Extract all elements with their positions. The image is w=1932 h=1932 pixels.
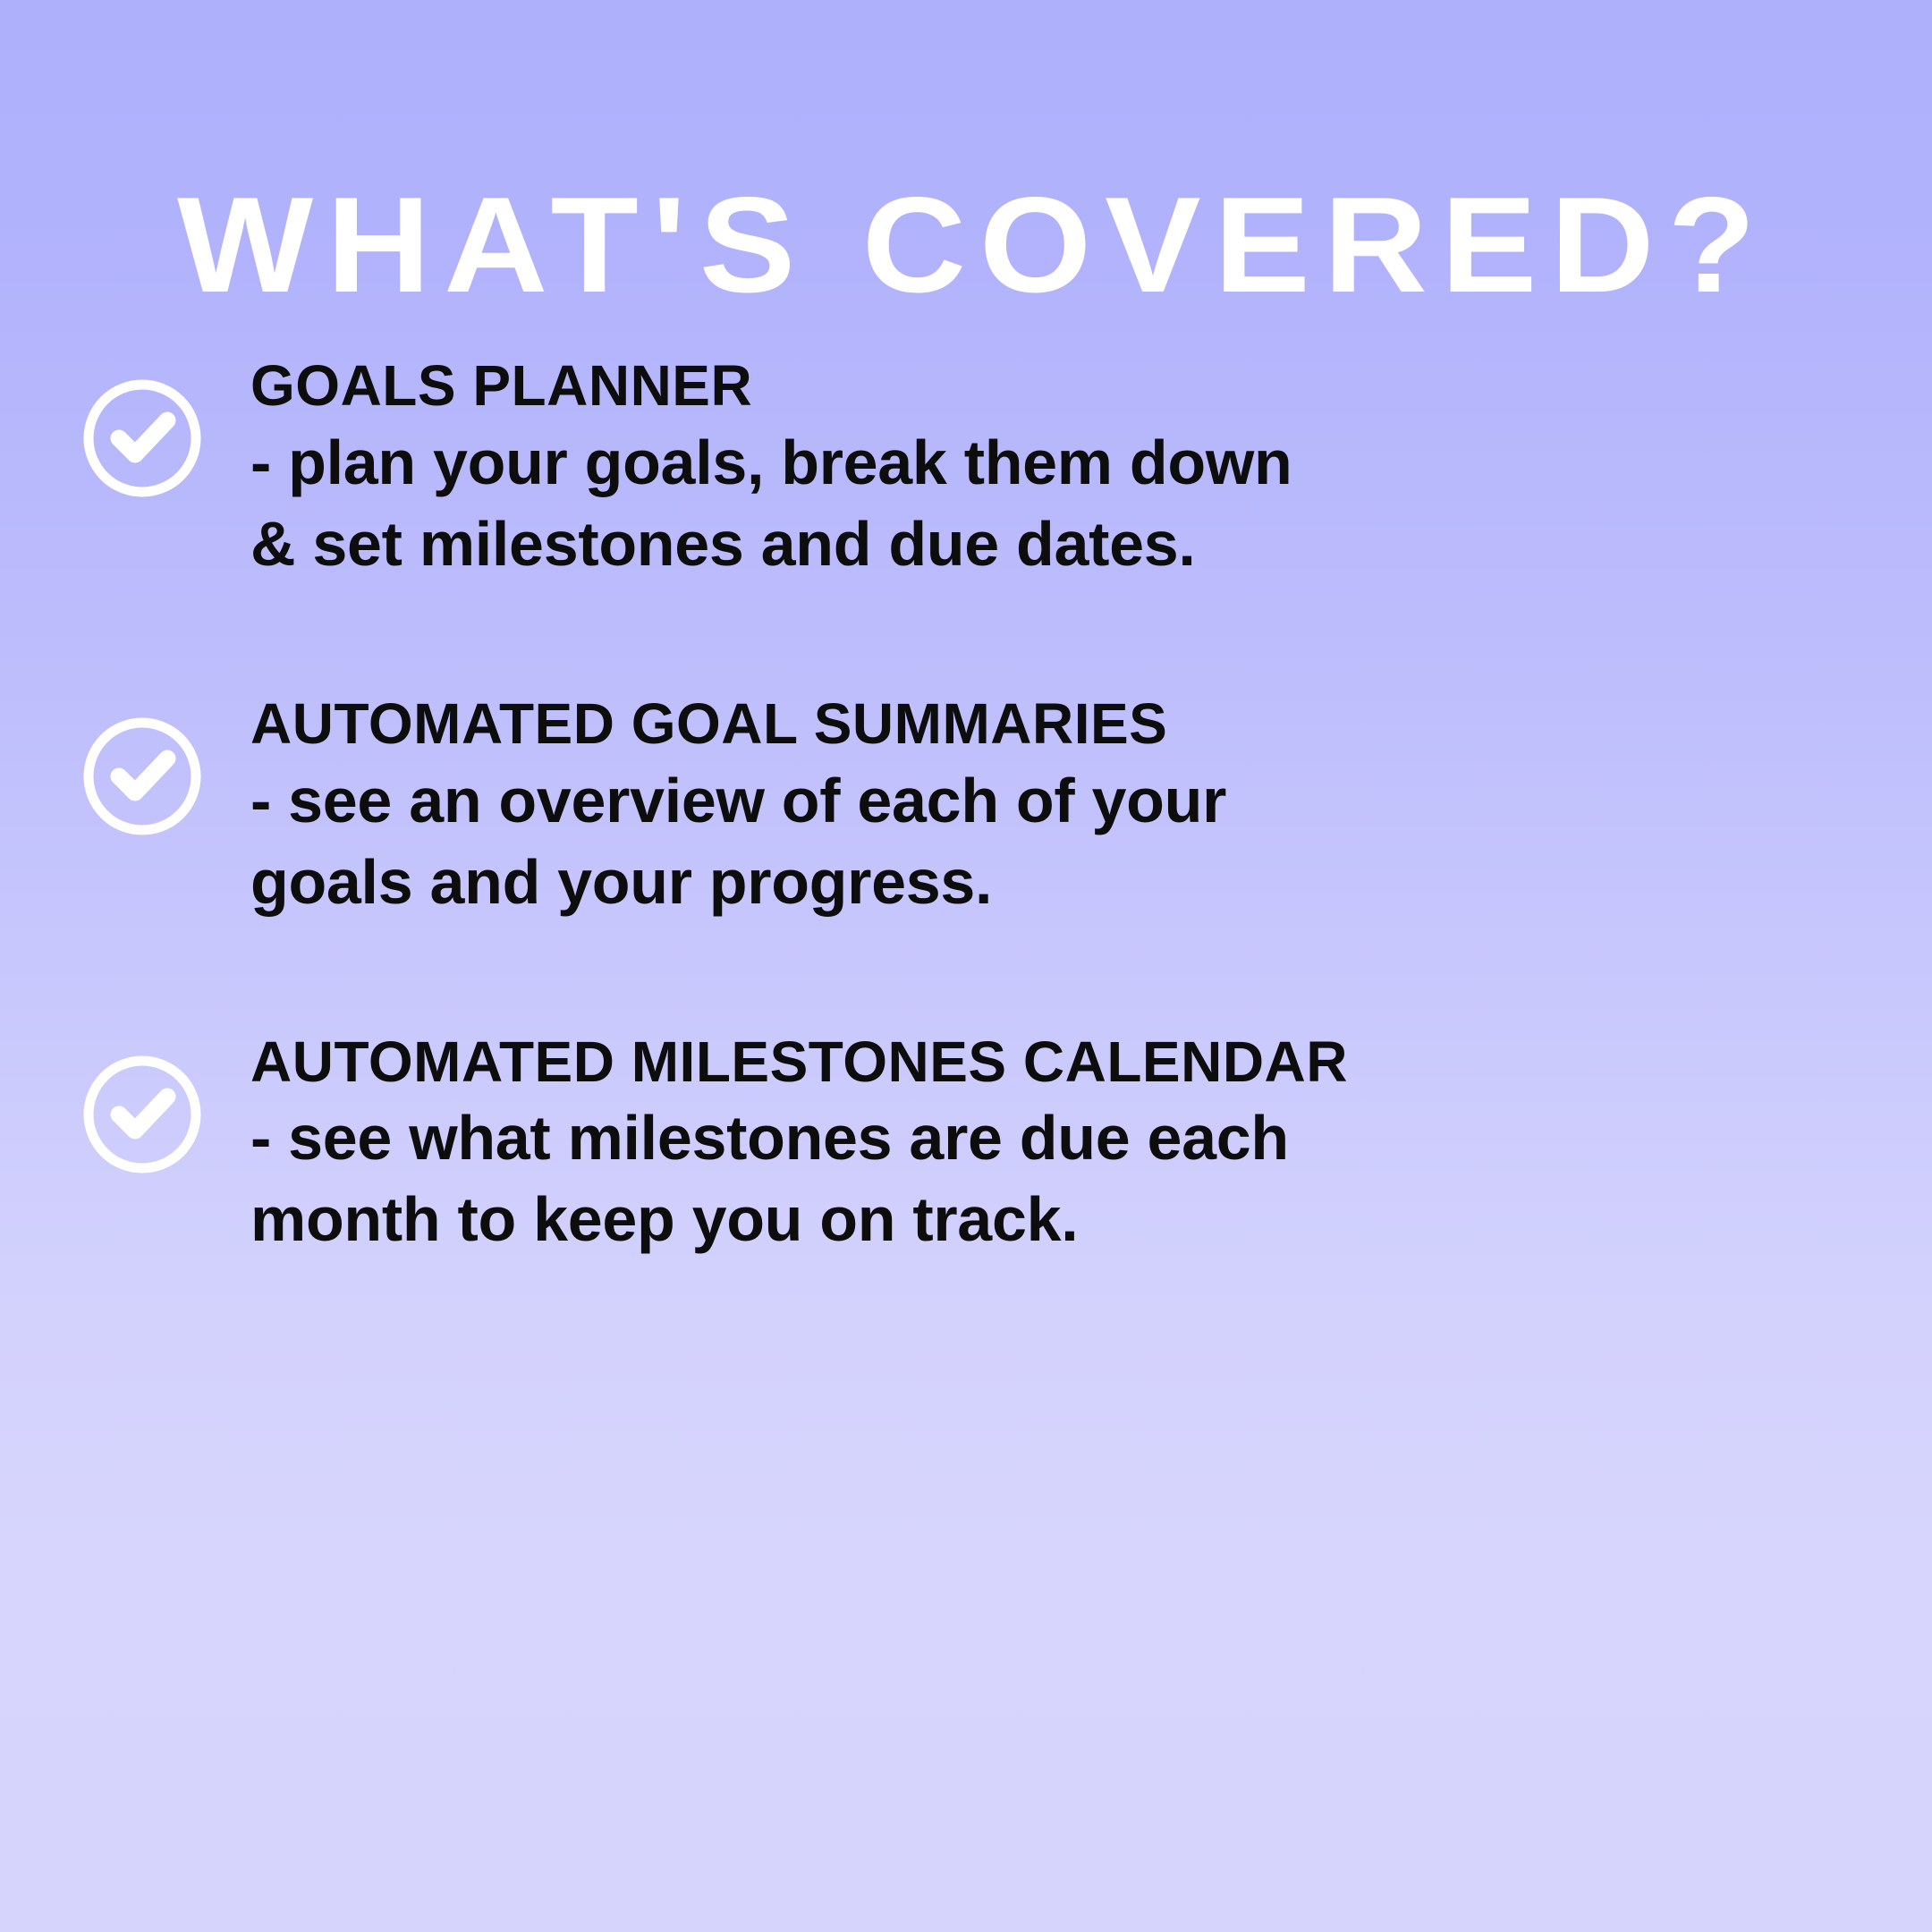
feature-body-line: & set milestones and due dates. [250,504,1878,585]
feature-body-line: - plan your goals, break them down [250,422,1878,504]
feature-body: - see what milestones are due each month… [250,1097,1878,1260]
feature-body-line: - see what milestones are due each [250,1097,1878,1179]
check-circle-icon [83,379,201,497]
feature-list: GOALS PLANNER - plan your goals, break t… [0,356,1932,1260]
feature-body: - see an overview of each of your goals … [250,760,1878,923]
feature-item: GOALS PLANNER - plan your goals, break t… [0,356,1932,585]
feature-body-line: month to keep you on track. [250,1179,1878,1260]
check-circle-icon [83,1055,201,1174]
feature-item: AUTOMATED GOAL SUMMARIES - see an overvi… [0,694,1932,923]
poster-canvas: WHAT'S COVERED? GOALS PLANNER - plan you… [0,0,1932,1932]
page-title: WHAT'S COVERED? [164,177,1768,313]
check-circle-icon [83,717,201,835]
feature-heading: AUTOMATED GOAL SUMMARIES [250,694,1878,755]
feature-item: AUTOMATED MILESTONES CALENDAR - see what… [0,1032,1932,1261]
feature-body: - plan your goals, break them down & set… [250,422,1878,585]
feature-body-line: goals and your progress. [250,842,1878,923]
feature-heading: GOALS PLANNER [250,356,1878,417]
feature-heading: AUTOMATED MILESTONES CALENDAR [250,1032,1878,1093]
feature-body-line: - see an overview of each of your [250,760,1878,842]
